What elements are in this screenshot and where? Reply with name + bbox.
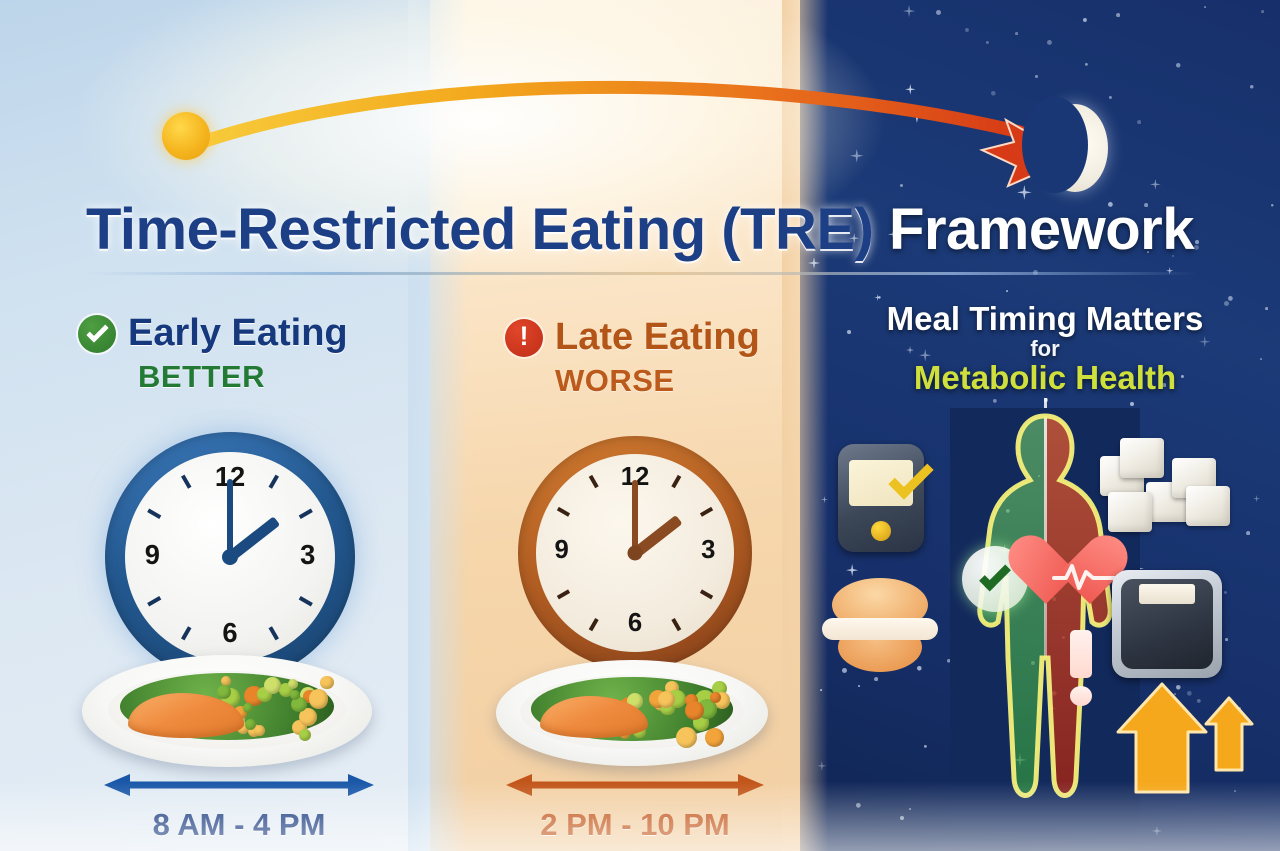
exclamation-mark-icon <box>1068 630 1094 708</box>
blue-wall-clock: 12369 <box>105 432 355 682</box>
vegetable-piece <box>320 676 334 690</box>
vegetable-piece <box>710 692 721 703</box>
middle-verdict-label: WORSE <box>555 363 760 399</box>
right-heading-line1: Meal Timing Matters <box>820 300 1270 338</box>
vegetable-piece <box>243 703 253 713</box>
glucose-meter-icon <box>838 444 924 552</box>
middle-panel-heading: ! Late Eating WORSE <box>505 316 760 399</box>
weight-scale-icon <box>1112 570 1222 678</box>
sugar-cubes-icon <box>1094 434 1234 554</box>
vegetable-piece <box>309 689 328 708</box>
vegetable-piece <box>264 677 281 694</box>
vegetable-piece <box>676 727 697 748</box>
clock-numeral: 6 <box>210 617 250 649</box>
middle-meal-plate <box>496 660 768 766</box>
right-heading-line3: Metabolic Health <box>820 359 1270 397</box>
up-arrows-icon <box>1116 678 1256 798</box>
clock-numeral: 9 <box>542 536 582 565</box>
clock-numeral: 6 <box>615 609 655 638</box>
vegetable-piece <box>658 691 675 708</box>
page-title: Time-Restricted Eating (TRE) Framework <box>0 196 1280 263</box>
bottom-haze <box>0 781 1280 851</box>
clock-numeral: 9 <box>132 539 172 571</box>
exclamation-circle-icon: ! <box>505 319 543 357</box>
metabolic-health-scene <box>800 418 1280 838</box>
clock-center-pin <box>222 549 238 565</box>
middle-heading-text: Late Eating <box>555 316 760 359</box>
left-panel-heading: Early Eating BETTER <box>78 312 348 395</box>
crescent-moon-icon <box>1042 104 1108 192</box>
page-title-secondary: Framework <box>889 197 1194 262</box>
clock-numeral: 3 <box>688 536 728 565</box>
clock-minute-hand <box>227 479 233 557</box>
page-title-primary: Time-Restricted Eating (TRE) <box>86 197 873 262</box>
check-circle-icon <box>78 315 116 353</box>
clock-minute-hand <box>632 480 638 553</box>
infographic-canvas: Time-Restricted Eating (TRE) Framework E… <box>0 0 1280 851</box>
vegetable-piece <box>705 728 724 747</box>
title-underline <box>86 272 1196 275</box>
left-meal-plate <box>82 655 372 767</box>
sun-icon <box>148 98 224 174</box>
orange-wall-clock: 12369 <box>518 436 752 670</box>
left-heading-text: Early Eating <box>128 312 348 355</box>
clock-center-pin <box>628 546 643 561</box>
vegetable-piece <box>299 729 311 741</box>
left-verdict-label: BETTER <box>138 359 348 395</box>
measuring-tape-icon <box>820 574 940 682</box>
right-panel-heading: Meal Timing Matters for Metabolic Health <box>820 300 1270 397</box>
clock-numeral: 3 <box>288 539 328 571</box>
